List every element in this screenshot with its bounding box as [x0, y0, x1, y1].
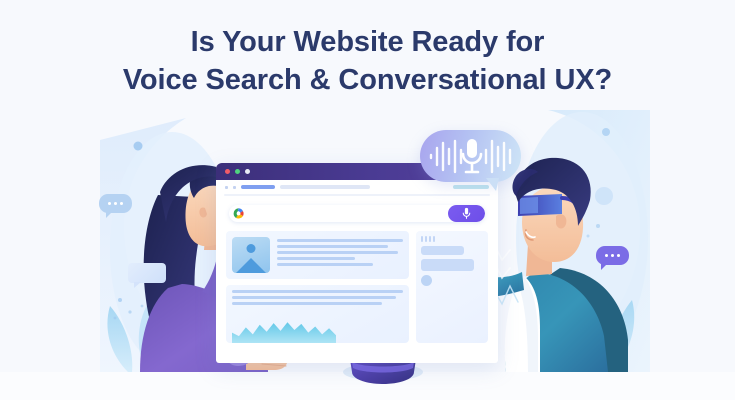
chat-bubble-message — [128, 263, 166, 283]
content-side-column — [416, 231, 488, 343]
toolbar-square-icon — [225, 186, 228, 189]
voice-search-mic-button[interactable] — [448, 205, 485, 222]
typing-dot — [120, 202, 123, 205]
avatar-head — [247, 244, 256, 253]
toolbar-divider — [224, 194, 490, 196]
text-line — [277, 263, 373, 266]
text-line — [277, 251, 398, 254]
window-maximize-dot[interactable] — [245, 169, 250, 174]
side-card-block — [421, 259, 474, 271]
side-panel — [416, 231, 488, 343]
profile-card — [226, 231, 409, 279]
tick-mark — [425, 236, 427, 242]
chat-bubble-left — [99, 194, 132, 213]
chat-bubble-right — [596, 246, 629, 265]
typing-dot — [108, 202, 111, 205]
typing-dot — [617, 254, 620, 257]
window-minimize-dot[interactable] — [235, 169, 240, 174]
browser-content — [216, 222, 498, 343]
toolbar-tab-active[interactable] — [241, 185, 275, 189]
chart-text-lines — [232, 290, 403, 305]
chart-card — [226, 285, 409, 343]
toolbar-address-bar[interactable] — [280, 185, 370, 189]
search-input[interactable] — [245, 205, 448, 222]
avatar-body — [236, 258, 266, 273]
tick-mark — [433, 236, 435, 242]
google-logo-icon — [232, 207, 245, 220]
typing-dot — [611, 254, 614, 257]
voice-search-bar[interactable] — [229, 205, 485, 222]
content-main-column — [226, 231, 409, 343]
microphone-icon — [461, 207, 472, 220]
voice-bubble-contents — [420, 130, 521, 182]
profile-text-lines — [277, 237, 403, 273]
voice-search-banner: Is Your Website Ready for Voice Search &… — [0, 0, 735, 400]
toolbar-action-pill[interactable] — [453, 185, 489, 189]
browser-toolbar — [216, 180, 498, 194]
area-chart-icon — [232, 317, 336, 343]
voice-assistant-bubble — [420, 130, 521, 182]
tick-mark — [429, 236, 431, 242]
microphone-icon — [463, 139, 481, 172]
browser-window-mock — [216, 163, 498, 363]
tick-mark — [421, 236, 423, 242]
typing-dot — [114, 202, 117, 205]
text-line — [277, 257, 355, 260]
toolbar-square-icon — [233, 186, 236, 189]
text-line — [232, 302, 382, 305]
typing-dot — [605, 254, 608, 257]
text-line — [232, 290, 403, 293]
side-tick-row — [421, 236, 483, 242]
image-placeholder-icon — [421, 246, 464, 255]
window-close-dot[interactable] — [225, 169, 230, 174]
side-circle-icon — [421, 275, 432, 286]
user-avatar-icon — [232, 237, 270, 273]
text-line — [232, 296, 396, 299]
text-line — [277, 245, 388, 248]
text-line — [277, 239, 403, 242]
